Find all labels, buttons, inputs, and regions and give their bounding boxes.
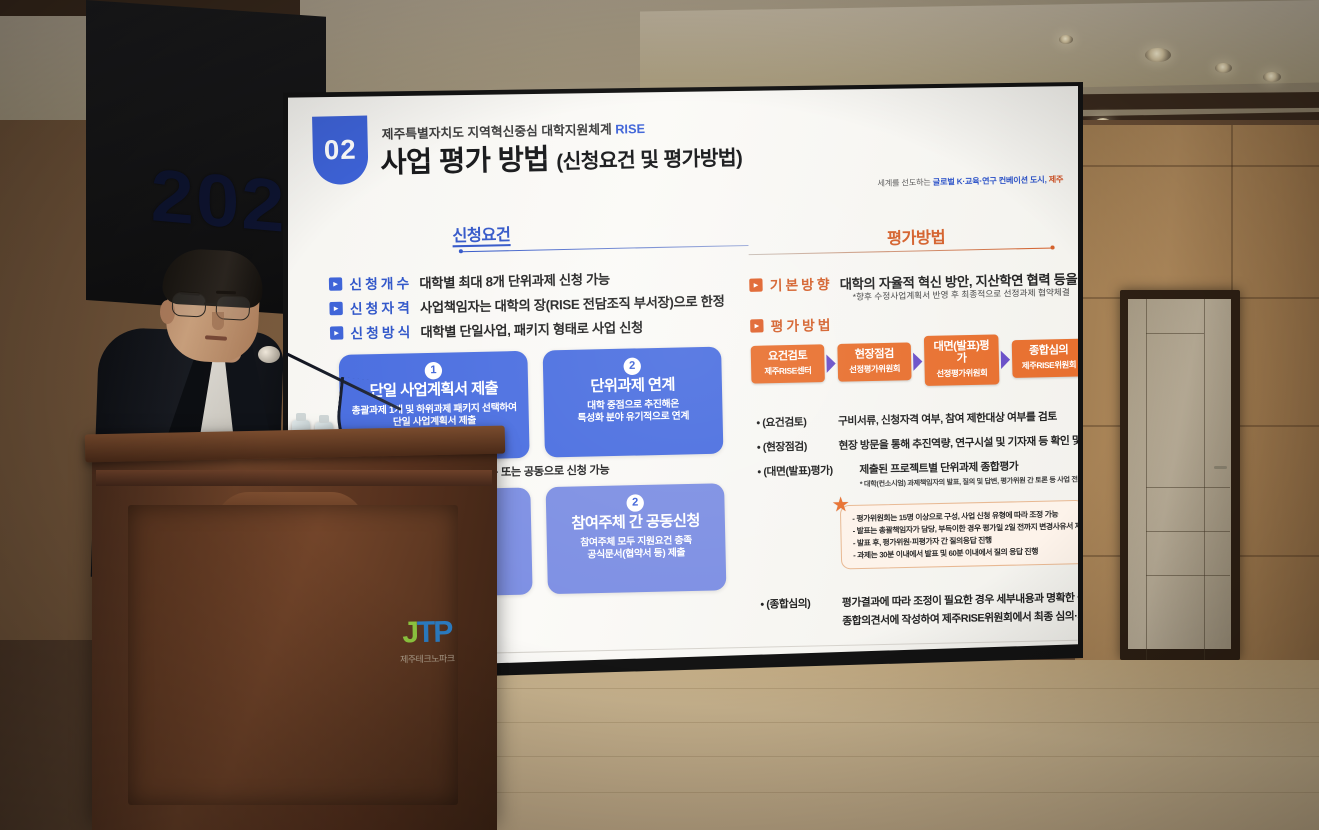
left-bullet-1-text: 사업책임자는 대학의 장(RISE 전담조직 부서장)으로 한정 (420, 290, 725, 316)
process-step-3-title: 종합심의 (1019, 344, 1078, 358)
left-card-1-number: 1 (425, 362, 443, 380)
jtp-letters-tp: TP (417, 616, 452, 650)
chevron-right-icon: ▸ (749, 278, 763, 292)
chevron-arrow-icon (913, 352, 923, 371)
process-step-2-title: 대면(발표)평가 (931, 340, 992, 366)
star-icon: ★ (831, 495, 850, 516)
microphone-head-icon (258, 346, 280, 363)
detail-row-0-text: 구비서류, 신청자격 여부, 참여 제한대상 여부를 검토 (838, 409, 1057, 429)
left-bullet-1-label: 신청자격 (350, 296, 413, 318)
chevron-right-icon: ▸ (329, 277, 343, 291)
evaluation-process-chain: 요건검토 제주RISE센터 현장점검 선정평가위원회 대면(발표)평가 선정평가… (751, 332, 1078, 389)
glasses-lens-left (171, 292, 206, 318)
summary-row: • (종합심의) 평가결과에 따라 조정이 필요한 경우 세부내용과 명확한 근… (760, 589, 1078, 630)
bottle-cap (319, 415, 329, 423)
door-handle-icon[interactable] (1214, 466, 1227, 469)
chevron-right-icon: ▸ (750, 319, 764, 333)
jtp-subtitle: 제주테크노파크 (372, 651, 482, 666)
summary-label: • (종합심의) (760, 595, 834, 612)
left-card-2-body: 대학 중점으로 추진해온 특성화 분야 유기적으로 연계 (544, 397, 723, 427)
door-leaf (1128, 299, 1231, 649)
process-step-0-title: 요건검토 (758, 350, 817, 364)
left-card-4: 2 참여주체 간 공동신청 참여주체 모두 지원요건 충족 공식문서(협약서 등… (546, 483, 727, 594)
slide-section-badge: 02 (312, 116, 369, 186)
ceiling-downlight (1059, 35, 1073, 44)
slide-title-main: 사업 평가 방법 (380, 143, 549, 178)
jtp-wordmark: JTP (372, 617, 483, 649)
process-step-3-org: 제주RISE위원회 (1019, 358, 1078, 372)
process-step-0-org: 제주RISE센터 (758, 364, 817, 378)
left-section-rule (461, 245, 749, 253)
right-bullet-0-label: 기본방향 (769, 273, 832, 295)
side-door[interactable] (1120, 290, 1240, 660)
podium-bevel (96, 470, 492, 486)
detail-row-0-label: • (요건검토) (756, 414, 830, 431)
jtp-logo: JTP 제주테크노파크 (372, 617, 483, 666)
slide-title-sub: (신청요건 및 평가방법) (556, 147, 742, 173)
ceiling-downlight (1215, 63, 1232, 73)
process-step-0: 요건검토 제주RISE센터 (751, 344, 825, 383)
left-card-4-number: 2 (626, 494, 644, 512)
slide-section-number: 02 (324, 134, 357, 166)
process-step-1-org: 선정평가위원회 (845, 362, 904, 376)
chevron-arrow-icon (1001, 350, 1011, 369)
chevron-right-icon: ▸ (329, 301, 343, 315)
detail-row-0: • (요건검토) 구비서류, 신청자격 여부, 참여 제한대상 여부를 검토 (756, 409, 1057, 431)
right-rule-dot (1050, 245, 1054, 249)
left-bullet-0-text: 대학별 최대 8개 단위과제 신청 가능 (419, 268, 610, 292)
left-bullet-0: ▸ 신청개수 대학별 최대 8개 단위과제 신청 가능 (329, 267, 610, 294)
bottle-cap (296, 413, 306, 421)
process-step-1-title: 현장점검 (845, 348, 904, 362)
detail-row-1-label: • (현장점검) (757, 438, 831, 455)
left-card-2: 2 단위과제 연계 대학 중점으로 추진해온 특성화 분야 유기적으로 연계 (543, 347, 724, 458)
evaluation-callout-box: ★ 평가위원회는 15명 이상으로 구성, 사업 신청 유형에 따라 조정 가능… (840, 500, 1078, 570)
left-bullet-2-text: 대학별 단일사업, 패키지 형태로 사업 신청 (420, 316, 643, 340)
jtp-letter-j: J (402, 616, 417, 649)
detail-row-1: • (현장점검) 현장 방문을 통해 추진역량, 연구시설 및 기자재 등 확인… (757, 431, 1078, 455)
left-bullet-0-label: 신청개수 (349, 272, 412, 294)
detail-row-2: • (대면(발표)평가) 제출된 프로젝트별 단위과제 종합평가 * 대학(컨소… (757, 457, 1078, 492)
process-step-2-org: 선정평가위원회 (932, 366, 992, 380)
left-bullet-1: ▸ 신청자격 사업책임자는 대학의 장(RISE 전담조직 부서장)으로 한정 (329, 289, 724, 318)
process-step-1: 현장점검 선정평가위원회 (837, 342, 911, 381)
process-step-3: 종합심의 제주RISE위원회 (1012, 339, 1078, 378)
ceiling-downlight (1145, 48, 1171, 62)
tagline-blue: 글로벌 K·교육·연구 컨베이션 도시, (933, 175, 1047, 187)
left-card-2-heading: 단위과제 연계 (543, 376, 722, 397)
summary-line-1: 평가결과에 따라 조정이 필요한 경우 세부내용과 명확한 근거를 (842, 589, 1078, 610)
left-card-2-number: 2 (623, 357, 641, 375)
slide-title: 사업 평가 방법 (신청요건 및 평가방법) (380, 133, 743, 182)
right-bullet-1: ▸ 평가방법 (750, 314, 834, 336)
detail-row-1-text: 현장 방문을 통해 추진역량, 연구시설 및 기자재 등 확인 및 점검(필요시… (838, 431, 1078, 453)
detail-row-2-text: 제출된 프로젝트별 단위과제 종합평가 (859, 458, 1018, 477)
left-bullet-2-label: 신청방식 (350, 321, 413, 343)
detail-row-2-note: * 대학(컨소시엄) 과제책임자의 발표, 질의 및 답변, 평가위원 간 토론… (860, 474, 1078, 489)
chevron-arrow-icon (826, 354, 836, 373)
left-card-4-heading: 참여주체 간 공동신청 (546, 513, 725, 534)
detail-row-2-label: • (대면(발표)평가) (757, 462, 851, 479)
speaker-nose (212, 312, 224, 330)
ceiling-downlight (1263, 72, 1281, 82)
chevron-right-icon: ▸ (330, 326, 344, 340)
summary-line-2: 종합의견서에 작성하여 제주RISE위원회에서 최종 심의·의결 (842, 608, 1078, 629)
left-bullet-2: ▸ 신청방식 대학별 단일사업, 패키지 형태로 사업 신청 (330, 316, 643, 343)
conference-room-photo: 2025 02 제주특별자치도 지역혁신중심 대학지원체계 RISE 사업 평가 (0, 0, 1319, 830)
right-bullet-1-label: 평가방법 (770, 314, 833, 336)
tagline-orange: 제주 (1047, 175, 1064, 185)
left-card-4-body: 참여주체 모두 지원요건 충족 공식문서(협약서 등) 제출 (547, 534, 726, 564)
left-rule-dot (459, 249, 463, 253)
tagline-prefix: 세계를 선도하는 (877, 178, 932, 188)
right-section-title: 평가방법 (887, 223, 946, 249)
left-section-title: 신청요건 (452, 221, 511, 247)
process-step-2: 대면(발표)평가 선정평가위원회 (924, 334, 1000, 386)
slide-tagline: 세계를 선도하는 글로벌 K·교육·연구 컨베이션 도시, 제주 (877, 174, 1063, 189)
